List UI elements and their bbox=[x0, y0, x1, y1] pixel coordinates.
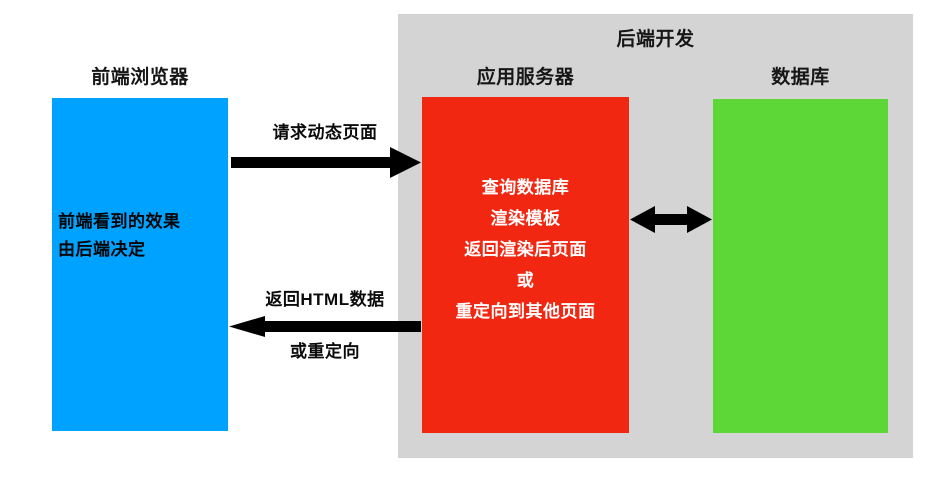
appserver-column-label: 应用服务器 bbox=[422, 62, 629, 89]
frontend-box-line-2: 由后端决定 bbox=[58, 236, 228, 264]
backend-panel-title: 后端开发 bbox=[398, 24, 913, 51]
frontend-browser-box bbox=[52, 98, 228, 431]
response-arrow-icon bbox=[229, 316, 421, 337]
database-column-label: 数据库 bbox=[713, 62, 888, 89]
appserver-box-line-2: 渲染模板 bbox=[422, 203, 629, 234]
diagram-canvas: 后端开发 前端浏览器 应用服务器 数据库 前端看到的效果 由后端决定 查询数据库… bbox=[0, 0, 952, 480]
request-arrow-icon bbox=[231, 147, 421, 178]
appserver-box-line-4: 或 bbox=[422, 265, 629, 296]
frontend-box-text: 前端看到的效果 由后端决定 bbox=[58, 208, 228, 264]
appserver-box-line-1: 查询数据库 bbox=[422, 172, 629, 203]
appserver-box-line-3: 返回渲染后页面 bbox=[422, 234, 629, 265]
response-arrow-label-above: 返回HTML数据 bbox=[228, 285, 422, 310]
appserver-box-text: 查询数据库 渲染模板 返回渲染后页面 或 重定向到其他页面 bbox=[422, 172, 629, 327]
request-arrow-label: 请求动态页面 bbox=[230, 118, 420, 143]
database-box bbox=[713, 99, 888, 433]
frontend-box-line-1: 前端看到的效果 bbox=[58, 208, 228, 236]
appserver-box-line-5: 重定向到其他页面 bbox=[422, 296, 629, 327]
response-arrow-label-below: 或重定向 bbox=[228, 337, 422, 362]
frontend-column-label: 前端浏览器 bbox=[52, 62, 228, 89]
